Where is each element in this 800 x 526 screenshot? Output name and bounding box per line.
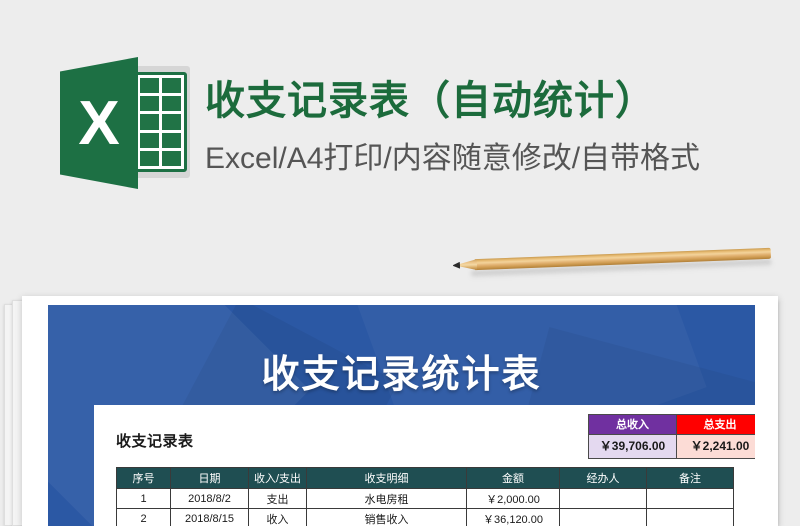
summary-totals: 总收入 ￥39,706.00 总支出 ￥2,241.00 bbox=[588, 414, 755, 459]
records-table: 序号 日期 收入/支出 收支明细 金额 经办人 备注 1 2018/8/2 支出 bbox=[116, 467, 734, 526]
cell-detail: 水电房租 bbox=[307, 489, 467, 509]
cell-type: 支出 bbox=[249, 489, 307, 509]
column-header-type: 收入/支出 bbox=[249, 468, 307, 489]
document-header-banner: 收支记录统计表 收支记录表 总收入 ￥39,706.00 总支出 ￥2,241.… bbox=[48, 305, 755, 526]
cell-person bbox=[560, 509, 647, 526]
pencil-tip bbox=[453, 262, 460, 269]
cell-type: 收入 bbox=[249, 509, 307, 526]
column-header-person: 经办人 bbox=[560, 468, 647, 489]
sheet-heading: 收支记录表 bbox=[116, 430, 194, 451]
cell-date: 2018/8/15 bbox=[171, 509, 249, 526]
excel-icon-grid bbox=[134, 72, 187, 172]
spreadsheet-card: 收支记录表 总收入 ￥39,706.00 总支出 ￥2,241.00 bbox=[94, 405, 755, 526]
total-income-label: 总收入 bbox=[589, 415, 676, 435]
cell-person bbox=[560, 489, 647, 509]
cell-amount: ￥2,000.00 bbox=[467, 489, 560, 509]
banner-subtitle: Excel/A4打印/内容随意修改/自带格式 bbox=[205, 133, 700, 177]
table-row: 2 2018/8/15 收入 销售收入 ￥36,120.00 bbox=[117, 509, 734, 526]
total-expense-value: ￥2,241.00 bbox=[677, 435, 755, 458]
column-header-detail: 收支明细 bbox=[307, 468, 467, 489]
cell-amount: ￥36,120.00 bbox=[467, 509, 560, 526]
table-header-row: 序号 日期 收入/支出 收支明细 金额 经办人 备注 bbox=[117, 468, 734, 489]
cell-index: 1 bbox=[117, 489, 171, 509]
column-header-index: 序号 bbox=[117, 468, 171, 489]
cell-detail: 销售收入 bbox=[307, 509, 467, 526]
column-header-amount: 金额 bbox=[467, 468, 560, 489]
table-row: 1 2018/8/2 支出 水电房租 ￥2,000.00 bbox=[117, 489, 734, 509]
column-header-date: 日期 bbox=[171, 468, 249, 489]
document-preview[interactable]: 收支记录统计表 收支记录表 总收入 ￥39,706.00 总支出 ￥2,241.… bbox=[22, 296, 778, 526]
promo-banner: X 收支记录表（自动统计） Excel/A4打印/内容随意修改/自带格式 bbox=[0, 0, 800, 240]
total-expense-box: 总支出 ￥2,241.00 bbox=[676, 415, 755, 458]
excel-icon-letter: X bbox=[60, 57, 138, 189]
excel-logo-icon: X bbox=[60, 57, 193, 189]
total-income-box: 总收入 ￥39,706.00 bbox=[589, 415, 676, 458]
pencil-icon bbox=[452, 239, 771, 279]
cell-date: 2018/8/2 bbox=[171, 489, 249, 509]
banner-title: 收支记录表（自动统计） bbox=[205, 68, 656, 126]
cell-note bbox=[647, 489, 734, 509]
total-income-value: ￥39,706.00 bbox=[589, 435, 676, 458]
total-expense-label: 总支出 bbox=[677, 415, 755, 435]
cell-note bbox=[647, 509, 734, 526]
cell-index: 2 bbox=[117, 509, 171, 526]
column-header-note: 备注 bbox=[647, 468, 734, 489]
document-title: 收支记录统计表 bbox=[48, 343, 755, 398]
